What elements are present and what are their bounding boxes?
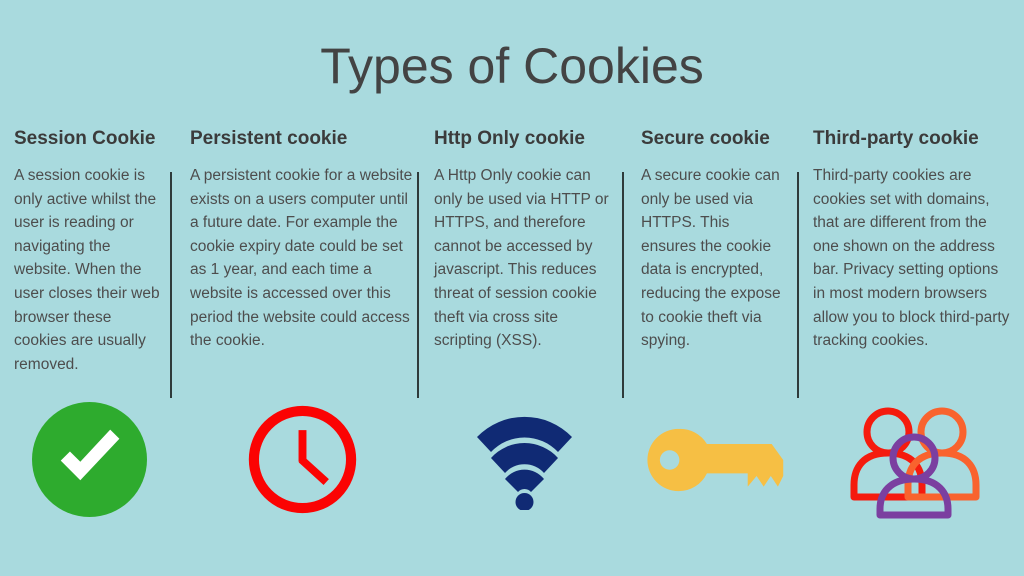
column-session-cookie: Session Cookie A session cookie is only … [14,128,164,376]
page-title: Types of Cookies [0,36,1024,96]
navy-wifi-icon [472,410,577,510]
column-heading: Session Cookie [14,128,164,150]
icon-cell-third-party-cookie [813,402,1013,517]
icon-cell-http-only-cookie [434,402,614,517]
yellow-key-icon [643,424,785,496]
column-divider-4 [797,172,799,398]
cookies-infographic: Types of Cookies Session Cookie A sessio… [0,0,1024,576]
column-heading: Third-party cookie [813,128,1013,150]
column-secure-cookie: Secure cookie A secure cookie can only b… [641,128,786,353]
column-third-party-cookie: Third-party cookie Third-party cookies a… [813,128,1013,353]
column-heading: Secure cookie [641,128,786,150]
icon-cell-persistent-cookie [190,402,415,517]
column-heading: Http Only cookie [434,128,614,150]
column-body: A secure cookie can only be used via HTT… [641,164,786,353]
icon-cell-session-cookie [14,402,164,517]
column-divider-2 [417,172,419,398]
green-check-circle-icon [32,402,147,517]
column-body: A persistent cookie for a website exists… [190,164,415,353]
column-http-only-cookie: Http Only cookie A Http Only cookie can … [434,128,614,353]
column-persistent-cookie: Persistent cookie A persistent cookie fo… [190,128,415,353]
column-divider-1 [170,172,172,398]
column-divider-3 [622,172,624,398]
column-body: Third-party cookies are cookies set with… [813,164,1013,353]
three-people-icon [844,401,982,519]
columns-container: Session Cookie A session cookie is only … [0,128,1024,408]
column-body: A session cookie is only active whilst t… [14,164,164,376]
icon-cell-secure-cookie [641,402,786,517]
icons-row [0,402,1024,522]
red-clock-icon [246,403,359,516]
column-heading: Persistent cookie [190,128,415,150]
column-body: A Http Only cookie can only be used via … [434,164,614,353]
